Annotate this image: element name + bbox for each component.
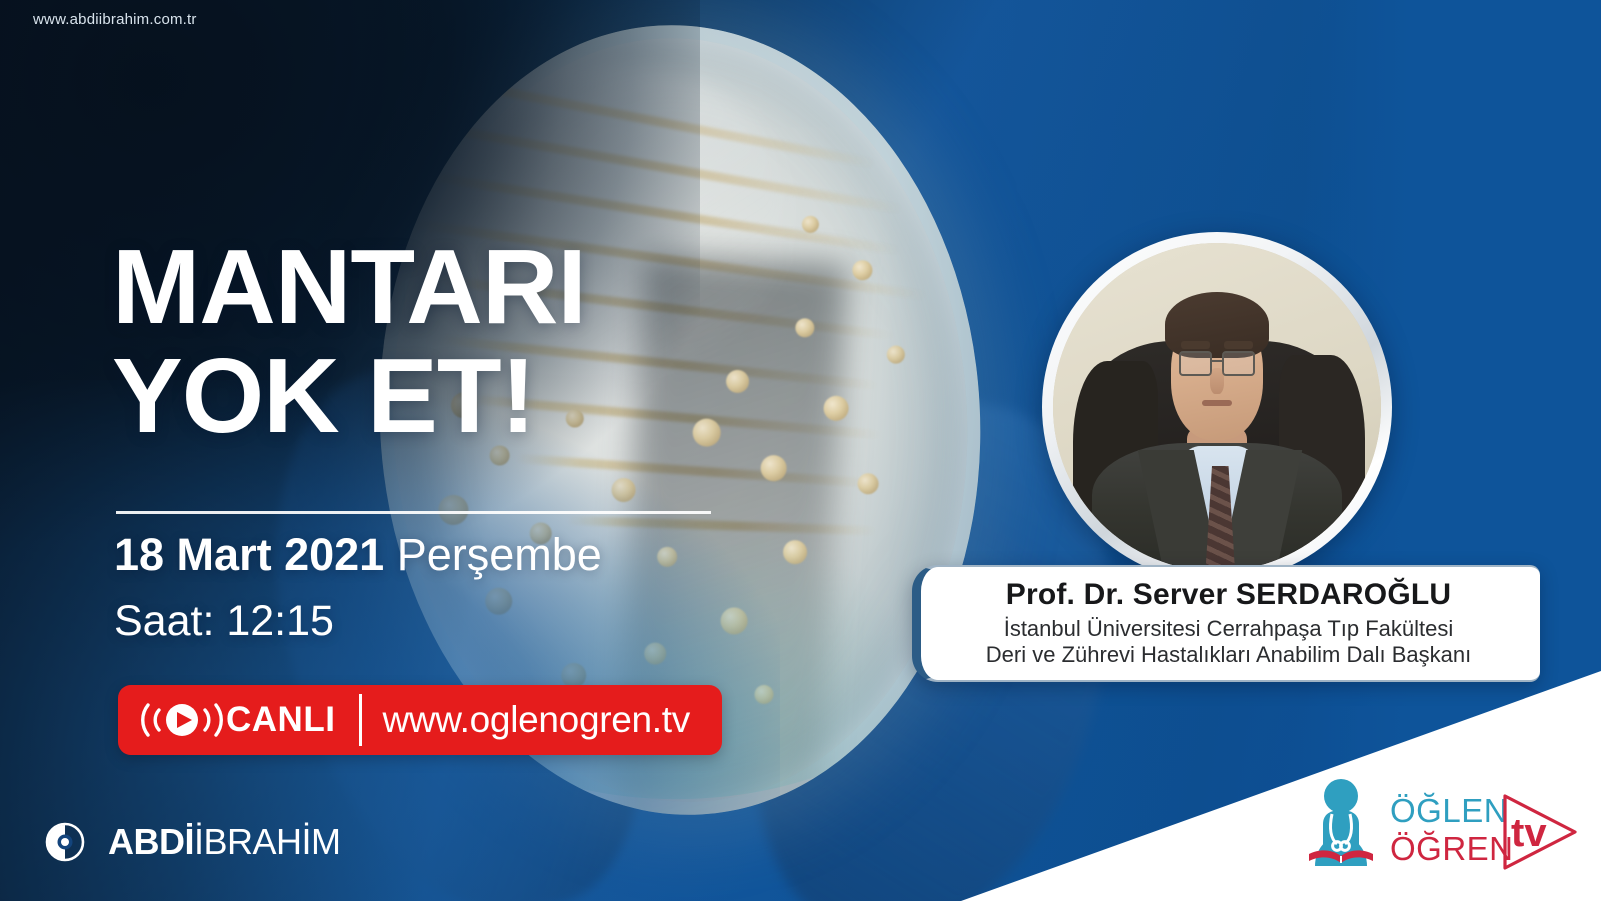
photo-eyeglass-left xyxy=(1179,351,1212,376)
sponsor-name-bold: ABDİ xyxy=(108,821,194,862)
photo-hair xyxy=(1165,292,1270,358)
event-date: 18 Mart 2021 Perşembe xyxy=(114,531,602,580)
event-date-value: 18 Mart 2021 xyxy=(114,529,384,580)
live-label: CANLI xyxy=(226,700,335,740)
speaker-affiliation-line-1: İstanbul Üniversitesi Cerrahpaşa Tıp Fak… xyxy=(1004,616,1454,642)
sponsor-logo: ABDİİBRAHİM xyxy=(44,821,341,863)
doctor-figure-icon xyxy=(1309,779,1373,866)
page-title: MANTARI YOK ET! xyxy=(112,236,832,448)
sponsor-name: ABDİİBRAHİM xyxy=(108,821,341,863)
logo-word-bottom: ÖĞREN xyxy=(1390,830,1514,867)
headline-line-1: MANTARI xyxy=(112,228,586,346)
sponsor-name-light: İBRAHİM xyxy=(194,821,341,862)
oglen-ogren-tv-logo[interactable]: ÖĞLEN ÖĞREN tv xyxy=(1293,774,1583,879)
photo-mouth xyxy=(1202,400,1232,406)
speaker-name: Prof. Dr. Server SERDAROĞLU xyxy=(1006,578,1452,612)
promo-banner: www.abdiibrahim.com.tr MANTARI YOK ET! 1… xyxy=(0,0,1601,901)
speaker-info-panel: Prof. Dr. Server SERDAROĞLU İstanbul Üni… xyxy=(912,565,1540,682)
headline-line-2: YOK ET! xyxy=(112,345,832,448)
abdi-ibrahim-mark-icon xyxy=(44,821,86,863)
site-url: www.abdiibrahim.com.tr xyxy=(33,11,197,28)
speaker-photo xyxy=(1053,243,1381,571)
event-time: Saat: 12:15 xyxy=(114,597,334,646)
separator xyxy=(359,694,362,746)
play-triangle-icon: tv xyxy=(1505,796,1575,868)
live-stream-bar[interactable]: CANLI www.oglenogren.tv xyxy=(118,685,722,755)
speaker-affiliation-line-2: Deri ve Zührevi Hastalıkları Anabilim Da… xyxy=(986,642,1471,668)
photo-eyeglass-bridge xyxy=(1210,360,1223,362)
divider xyxy=(116,511,711,514)
photo-eyeglass-right xyxy=(1222,351,1255,376)
stream-url[interactable]: www.oglenogren.tv xyxy=(382,699,690,741)
photo-eyebrow-right xyxy=(1224,341,1254,349)
photo-nose xyxy=(1210,368,1223,394)
logo-tv-label: tv xyxy=(1511,811,1547,855)
event-day-name: Perşembe xyxy=(384,529,602,580)
logo-word-top: ÖĞLEN xyxy=(1390,792,1508,829)
photo-eyebrow-left xyxy=(1181,341,1211,349)
live-broadcast-icon xyxy=(134,697,230,743)
avatar xyxy=(1042,232,1392,582)
